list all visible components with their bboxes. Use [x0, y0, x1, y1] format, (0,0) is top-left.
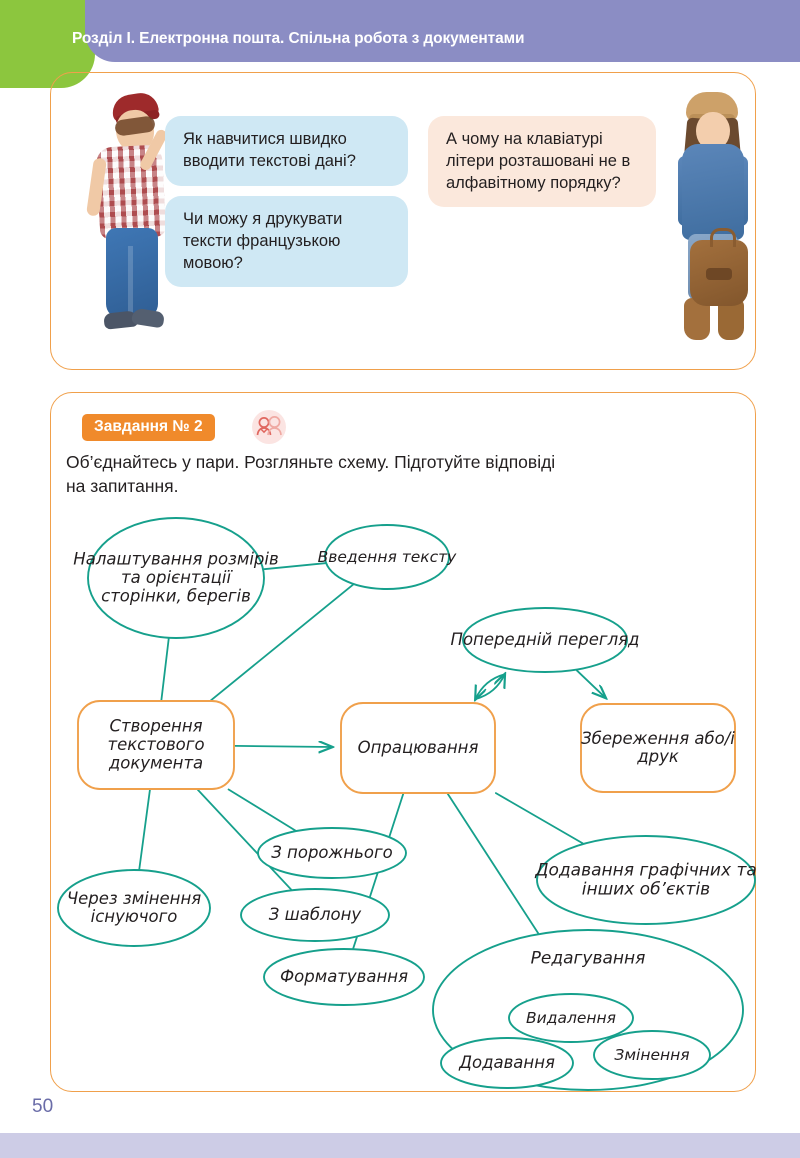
diagram-node-label: Створеннятекстовогодокумента	[107, 716, 204, 772]
diagram-node-label: З шаблону	[269, 905, 362, 924]
chapter-title: Розділ I. Електронна пошта. Спільна робо…	[72, 30, 524, 48]
pair-work-icon	[252, 410, 286, 444]
diagram-node: Через зміненняіснуючого	[58, 870, 210, 946]
diagram-edge	[235, 746, 332, 747]
girl-backpack-icon	[690, 240, 748, 306]
diagram-node: Форматування	[264, 949, 424, 1005]
diagram-node-label: Опрацювання	[358, 738, 479, 757]
speech-bubble-question-3: А чому на клавіатурі літери розташовані …	[428, 116, 656, 207]
diagram-node: Видалення	[509, 994, 633, 1042]
diagram-node: З порожнього	[258, 828, 406, 878]
girl-sweater-icon	[682, 144, 744, 240]
diagram-node-label: Додавання	[458, 1053, 555, 1072]
speech-bubble-question-2: Чи можу я друкувати тексти французькою м…	[165, 196, 408, 287]
task-badge: Завдання № 2	[82, 414, 215, 441]
diagram-node: Збереження або/ідрук	[581, 704, 735, 792]
diagram-node: Опрацювання	[341, 703, 495, 793]
page-number: 50	[32, 1096, 53, 1118]
concept-diagram: Налаштування розмірівта орієнтаціїсторін…	[50, 500, 760, 1092]
diagram-edge	[496, 793, 583, 843]
diagram-node-label: Форматування	[280, 967, 408, 986]
diagram-edge	[161, 639, 168, 700]
diagram-node: З шаблону	[241, 889, 389, 941]
diagram-nodes: Налаштування розмірівта орієнтаціїсторін…	[58, 518, 757, 1090]
diagram-node-label: Редагування	[531, 949, 646, 969]
diagram-node: Змінення	[594, 1031, 710, 1079]
diagram-edge-arrow	[476, 674, 505, 699]
diagram-node: Створеннятекстовогодокумента	[78, 701, 234, 789]
diagram-edge	[139, 790, 150, 869]
task-instruction-line-2: на запитання.	[66, 474, 746, 498]
diagram-node-label: Змінення	[614, 1046, 689, 1064]
boy-jeans-icon	[106, 228, 158, 318]
task-instruction-line-1: Об’єднайтесь у пари. Розгляньте схему. П…	[66, 450, 746, 474]
girl-photo	[660, 88, 764, 356]
boy-shirt-icon	[96, 144, 167, 239]
diagram-canvas: Налаштування розмірівта орієнтаціїсторін…	[50, 500, 760, 1092]
diagram-node: Додавання	[441, 1038, 573, 1088]
diagram-edge	[577, 670, 606, 698]
diagram-node-label: З порожнього	[271, 843, 393, 862]
diagram-edge	[448, 794, 539, 934]
speech-bubble-question-1: Як навчитися швидко вводити текстові дан…	[165, 116, 408, 186]
task-instruction: Об’єднайтесь у пари. Розгляньте схему. П…	[66, 450, 746, 498]
diagram-node: Додавання графічних таінших об’єктів	[534, 836, 757, 924]
diagram-node: Введення тексту	[318, 525, 458, 589]
diagram-node-label: Видалення	[526, 1009, 616, 1027]
diagram-node: Попередній перегляд	[451, 608, 640, 672]
diagram-edge-arrow	[476, 674, 505, 699]
diagram-node-label: Попередній перегляд	[451, 630, 640, 649]
diagram-node-label: Введення тексту	[318, 548, 458, 566]
footer-bar	[0, 1133, 800, 1158]
diagram-edge	[229, 790, 296, 831]
diagram-node: Налаштування розмірівта орієнтаціїсторін…	[73, 518, 278, 638]
